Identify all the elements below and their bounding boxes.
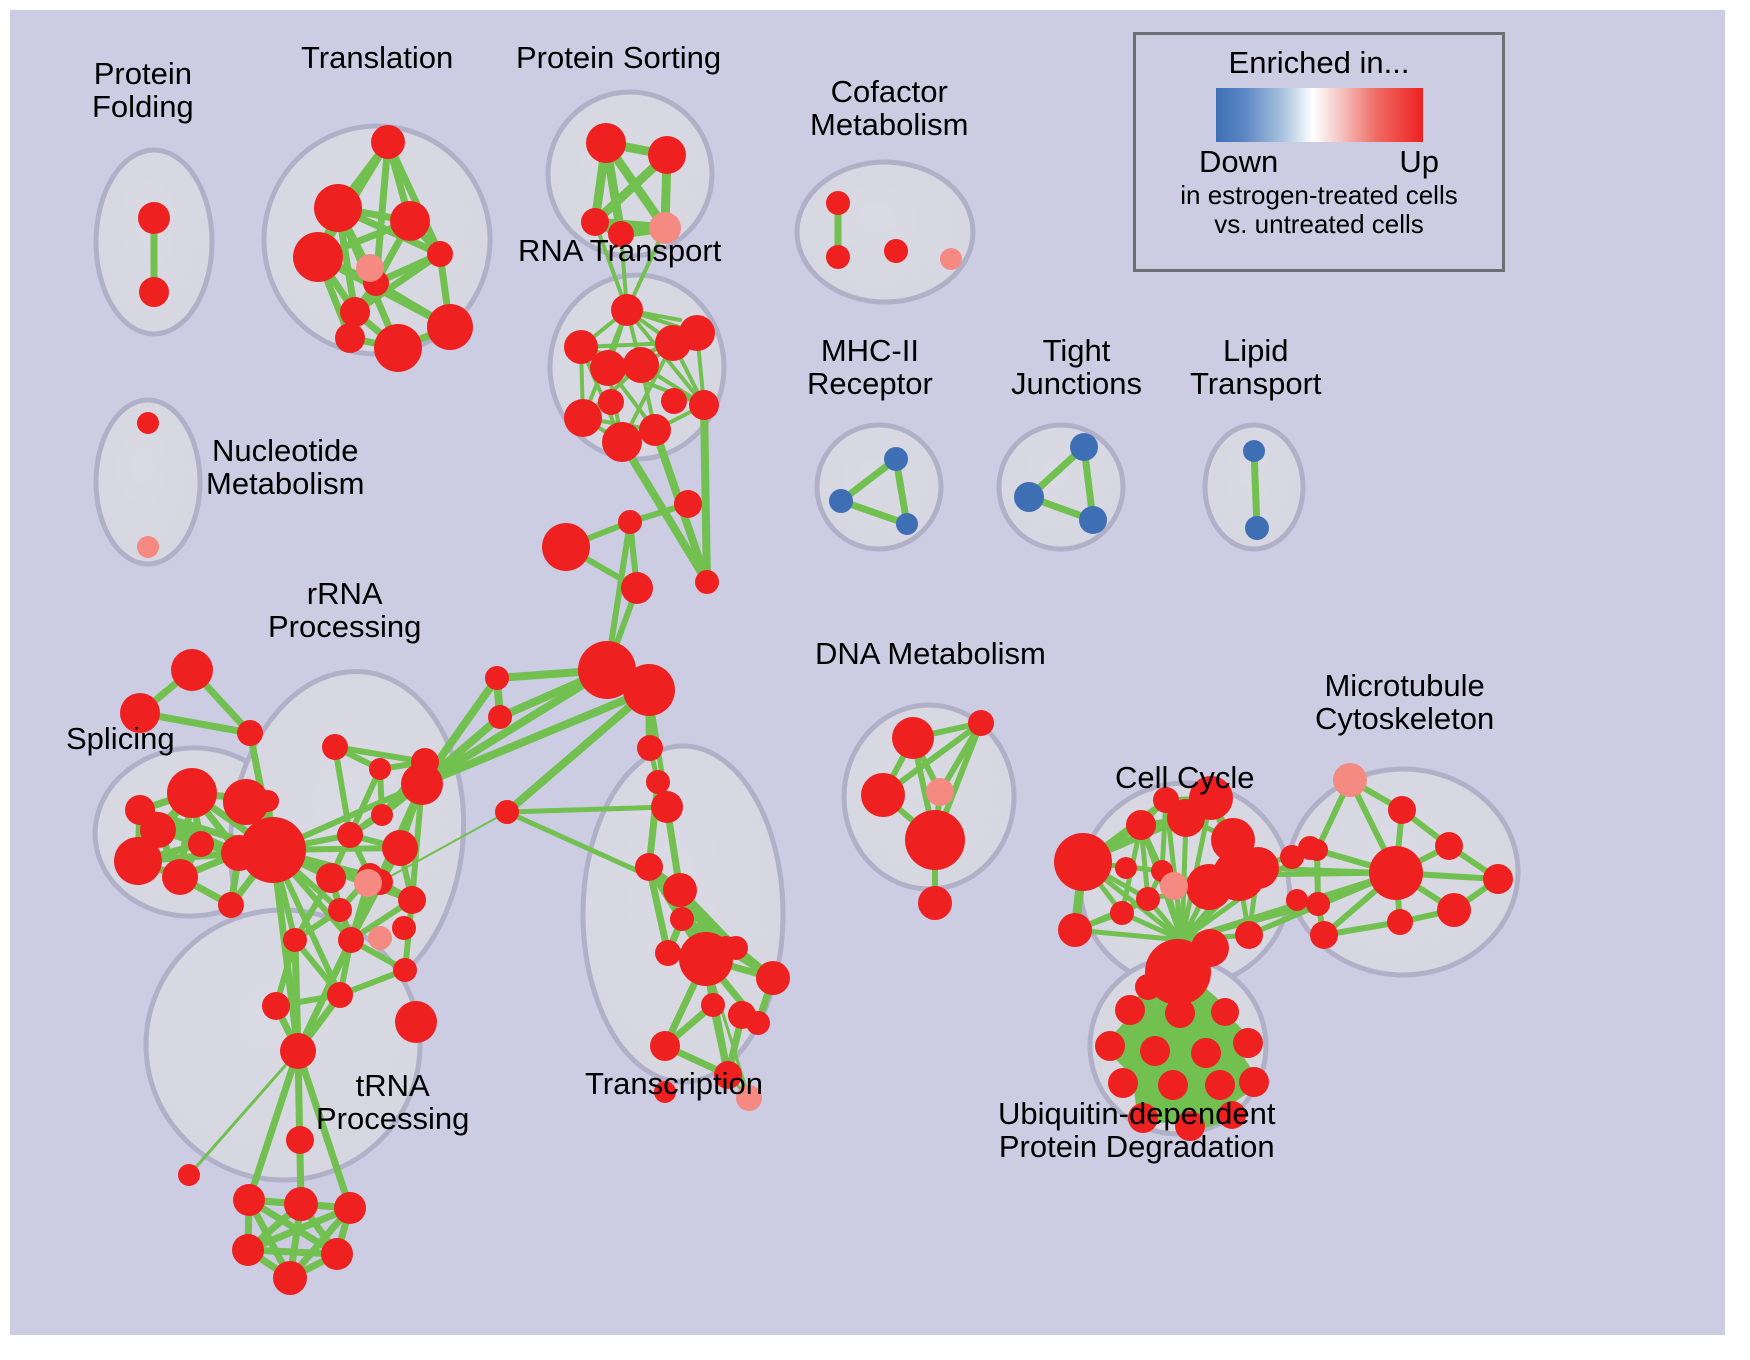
node bbox=[337, 822, 363, 848]
node bbox=[1108, 1068, 1138, 1098]
label-transcription: Transcription bbox=[585, 1068, 763, 1101]
node bbox=[1191, 1038, 1221, 1068]
node bbox=[1237, 847, 1279, 889]
node bbox=[635, 853, 663, 881]
network-canvas: Protein Folding Translation Protein Sort… bbox=[10, 10, 1725, 1335]
node bbox=[646, 770, 670, 794]
legend-endpoints: Down Up bbox=[1199, 144, 1439, 180]
node bbox=[321, 1238, 353, 1270]
node bbox=[639, 414, 671, 446]
node bbox=[340, 297, 370, 327]
node bbox=[398, 886, 426, 914]
node bbox=[137, 412, 159, 434]
node bbox=[623, 664, 675, 716]
node bbox=[427, 304, 473, 350]
node bbox=[598, 389, 624, 415]
node bbox=[232, 1234, 264, 1266]
node bbox=[1136, 887, 1160, 911]
node bbox=[338, 927, 364, 953]
node bbox=[240, 817, 306, 883]
node bbox=[1369, 846, 1423, 900]
node bbox=[623, 347, 659, 383]
label-mhc-ii-receptor: MHC-II Receptor bbox=[807, 335, 933, 401]
node bbox=[892, 717, 934, 759]
label-protein-sorting: Protein Sorting bbox=[516, 42, 721, 75]
node bbox=[1014, 482, 1044, 512]
node bbox=[884, 239, 908, 263]
node bbox=[918, 886, 952, 920]
node bbox=[395, 1001, 437, 1043]
node bbox=[648, 136, 686, 174]
node bbox=[564, 399, 602, 437]
node bbox=[968, 710, 994, 736]
node bbox=[670, 907, 694, 931]
label-cell-cycle: Cell Cycle bbox=[1115, 762, 1255, 795]
node bbox=[655, 325, 691, 361]
node bbox=[162, 859, 198, 895]
label-tight-junctions: Tight Junctions bbox=[1011, 335, 1142, 401]
edge bbox=[704, 405, 707, 582]
node bbox=[488, 705, 512, 729]
node bbox=[262, 992, 290, 1020]
node bbox=[829, 489, 853, 513]
node bbox=[393, 958, 417, 982]
node bbox=[371, 804, 393, 826]
node bbox=[322, 734, 348, 760]
legend-up-label: Up bbox=[1399, 144, 1439, 180]
node bbox=[139, 277, 169, 307]
node bbox=[237, 720, 263, 746]
label-cofactor-metabolism: Cofactor Metabolism bbox=[810, 76, 969, 142]
node bbox=[826, 191, 850, 215]
node bbox=[369, 758, 391, 780]
node bbox=[581, 208, 609, 236]
node bbox=[1126, 810, 1156, 840]
label-trna-processing: tRNA Processing bbox=[316, 1070, 469, 1136]
node bbox=[218, 892, 244, 918]
node bbox=[1306, 892, 1330, 916]
node bbox=[1239, 1067, 1269, 1097]
label-microtubule-cytoskeleton: Microtubule Cytoskeleton bbox=[1315, 670, 1494, 736]
node bbox=[756, 961, 790, 995]
node bbox=[233, 1184, 265, 1216]
label-dna-metabolism: DNA Metabolism bbox=[815, 638, 1046, 671]
node bbox=[178, 1164, 200, 1186]
node bbox=[1058, 913, 1092, 947]
node bbox=[1079, 506, 1107, 534]
node bbox=[1286, 889, 1308, 911]
node bbox=[651, 791, 683, 823]
node bbox=[861, 773, 905, 817]
node bbox=[392, 916, 416, 940]
legend-color-bar bbox=[1216, 88, 1423, 142]
node bbox=[328, 898, 352, 922]
node bbox=[371, 125, 405, 159]
node bbox=[280, 1033, 316, 1069]
node bbox=[335, 323, 365, 353]
legend-caption-line1: in estrogen-treated cells bbox=[1180, 181, 1457, 210]
node bbox=[1243, 440, 1265, 462]
node bbox=[663, 873, 697, 907]
node bbox=[896, 513, 918, 535]
node bbox=[926, 778, 954, 806]
node bbox=[495, 800, 519, 824]
node bbox=[940, 248, 962, 270]
node bbox=[314, 184, 362, 232]
node bbox=[1388, 796, 1416, 824]
legend-caption-line2: vs. untreated cells bbox=[1214, 210, 1424, 239]
label-splicing: Splicing bbox=[66, 723, 175, 756]
node bbox=[283, 928, 307, 952]
node bbox=[356, 254, 384, 282]
node bbox=[655, 940, 681, 966]
node bbox=[884, 447, 908, 471]
node bbox=[138, 202, 170, 234]
node bbox=[826, 245, 850, 269]
node bbox=[293, 232, 343, 282]
node bbox=[485, 666, 509, 690]
label-rrna-processing: rRNA Processing bbox=[268, 578, 421, 644]
node bbox=[637, 735, 663, 761]
label-lipid-transport: Lipid Transport bbox=[1190, 335, 1322, 401]
node bbox=[1233, 1028, 1263, 1058]
legend-box: Enriched in... Down Up in estrogen-treat… bbox=[1133, 32, 1505, 272]
node bbox=[1435, 832, 1463, 860]
node bbox=[695, 570, 719, 594]
legend-title: Enriched in... bbox=[1229, 45, 1410, 81]
hull-tight bbox=[999, 425, 1123, 549]
node bbox=[701, 993, 725, 1017]
node bbox=[257, 790, 279, 812]
node bbox=[611, 294, 643, 326]
node bbox=[1110, 901, 1134, 925]
label-nucleotide-metabolism: Nucleotide Metabolism bbox=[206, 435, 365, 501]
node bbox=[674, 490, 702, 518]
node bbox=[171, 649, 213, 691]
edge bbox=[422, 670, 607, 784]
node bbox=[390, 201, 430, 241]
node bbox=[114, 837, 162, 885]
node bbox=[1140, 1036, 1170, 1066]
node bbox=[273, 1261, 307, 1295]
node bbox=[286, 1126, 314, 1154]
node bbox=[1115, 857, 1137, 879]
node bbox=[746, 1011, 770, 1035]
node bbox=[316, 863, 346, 893]
hull-mhc bbox=[817, 425, 941, 549]
node bbox=[905, 810, 965, 870]
node bbox=[354, 869, 382, 897]
node bbox=[427, 241, 453, 267]
node bbox=[1165, 998, 1195, 1028]
node bbox=[1306, 839, 1328, 861]
node bbox=[368, 926, 392, 950]
node bbox=[374, 324, 422, 372]
node bbox=[188, 831, 214, 857]
node bbox=[586, 123, 626, 163]
node bbox=[1333, 763, 1367, 797]
node bbox=[284, 1187, 318, 1221]
hull-cofactor bbox=[797, 162, 973, 302]
legend-down-label: Down bbox=[1199, 144, 1278, 180]
label-translation: Translation bbox=[301, 42, 453, 75]
node bbox=[1245, 516, 1269, 540]
label-protein-folding: Protein Folding bbox=[92, 58, 194, 124]
node bbox=[1070, 433, 1098, 461]
node bbox=[327, 982, 353, 1008]
node bbox=[679, 932, 733, 986]
node bbox=[650, 1031, 680, 1061]
node bbox=[689, 390, 719, 420]
node bbox=[1115, 995, 1145, 1025]
node bbox=[618, 510, 642, 534]
node bbox=[1387, 909, 1413, 935]
node bbox=[137, 536, 159, 558]
node bbox=[382, 830, 418, 866]
node bbox=[401, 763, 443, 805]
node bbox=[602, 422, 642, 462]
node bbox=[1160, 872, 1188, 900]
node bbox=[1483, 864, 1513, 894]
node bbox=[542, 523, 590, 571]
node bbox=[1235, 921, 1263, 949]
node bbox=[590, 350, 626, 386]
node bbox=[1310, 921, 1338, 949]
node bbox=[1437, 893, 1471, 927]
label-rna-transport: RNA Transport bbox=[518, 235, 721, 268]
node bbox=[1191, 929, 1229, 967]
node bbox=[167, 768, 217, 818]
node bbox=[1211, 998, 1239, 1026]
node bbox=[1186, 864, 1232, 910]
node bbox=[1095, 1031, 1125, 1061]
node bbox=[621, 572, 653, 604]
label-ubiquitin-protein-degradation: Ubiquitin-dependent Protein Degradation bbox=[998, 1098, 1276, 1164]
node bbox=[1054, 833, 1112, 891]
node bbox=[661, 388, 687, 414]
node bbox=[334, 1192, 366, 1224]
